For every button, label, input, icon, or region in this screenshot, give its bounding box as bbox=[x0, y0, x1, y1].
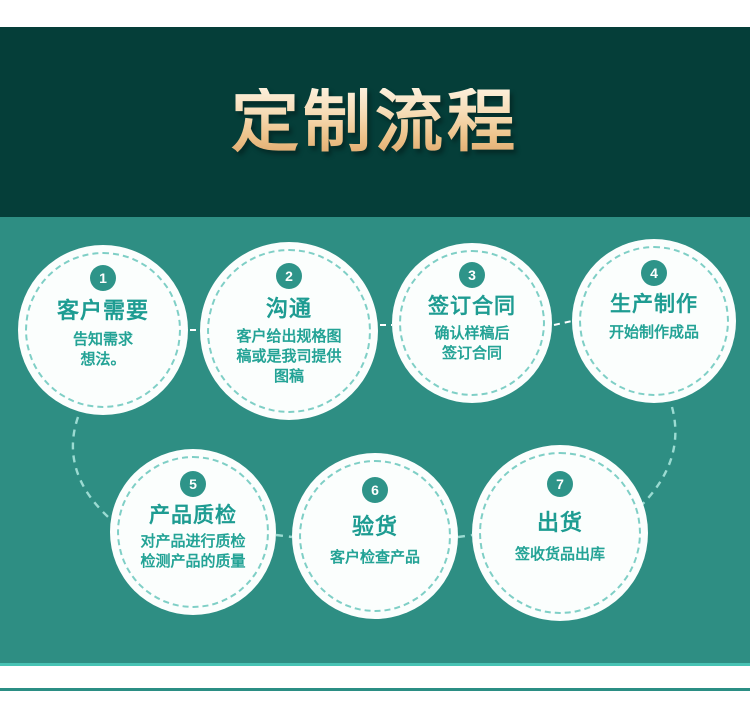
step-description-line: 稿或是我司提供 bbox=[236, 347, 341, 367]
step-card-5[interactable]: 5 产品质检 对产品进行质检 检测产品的质量 bbox=[110, 449, 276, 615]
step-description-line: 签收货品出库 bbox=[515, 545, 605, 565]
connector-3-4 bbox=[554, 321, 572, 325]
step-number-badge: 2 bbox=[276, 263, 302, 289]
bottom-white-margin bbox=[0, 691, 750, 707]
step-number-badge: 3 bbox=[459, 262, 485, 288]
step-number-badge: 5 bbox=[180, 471, 206, 497]
step-number-badge: 4 bbox=[641, 260, 667, 286]
top-white-margin bbox=[0, 0, 750, 27]
step-number-badge: 6 bbox=[362, 477, 388, 503]
step-description-line: 确认样稿后 bbox=[434, 324, 509, 344]
step-card-4[interactable]: 4 生产制作 开始制作成品 bbox=[572, 239, 736, 403]
step-description-line: 开始制作成品 bbox=[609, 323, 699, 343]
step-description-line: 检测产品的质量 bbox=[140, 552, 245, 572]
step-title: 沟通 bbox=[266, 297, 312, 321]
step-description: 告知需求 想法。 bbox=[73, 330, 133, 370]
step-card-6[interactable]: 6 验货 客户检查产品 bbox=[292, 453, 458, 619]
step-description: 对产品进行质检 检测产品的质量 bbox=[140, 532, 245, 572]
step-card-2[interactable]: 2 沟通 客户给出规格图 稿或是我司提供 图稿 bbox=[200, 242, 378, 420]
step-description: 确认样稿后 签订合同 bbox=[434, 324, 509, 364]
step-card-1[interactable]: 1 客户需要 告知需求 想法。 bbox=[18, 245, 188, 415]
step-description-line: 客户检查产品 bbox=[330, 548, 420, 568]
process-flow-area: 1 客户需要 告知需求 想法。 2 沟通 客户给出规格图 稿或是我司提供 图稿 … bbox=[0, 217, 750, 663]
step-description-line: 告知需求 bbox=[73, 330, 133, 350]
step-title: 验货 bbox=[352, 515, 398, 539]
step-description: 签收货品出库 bbox=[515, 545, 605, 565]
page-title: 定制流程 bbox=[231, 88, 519, 156]
step-description-line: 想法。 bbox=[73, 350, 133, 370]
step-description-line: 对产品进行质检 bbox=[140, 532, 245, 552]
step-title: 生产制作 bbox=[610, 293, 698, 316]
step-description: 开始制作成品 bbox=[609, 323, 699, 343]
step-number-badge: 7 bbox=[547, 471, 573, 497]
connector-5-6 bbox=[276, 535, 292, 537]
footer-white-gap bbox=[0, 666, 750, 688]
step-description-line: 客户给出规格图 bbox=[236, 327, 341, 347]
step-description: 客户给出规格图 稿或是我司提供 图稿 bbox=[236, 327, 341, 386]
step-title: 产品质检 bbox=[149, 504, 237, 527]
step-title: 签订合同 bbox=[428, 295, 516, 318]
step-card-7[interactable]: 7 出货 签收货品出库 bbox=[472, 445, 648, 621]
connector-6-7 bbox=[458, 535, 472, 537]
customization-process-infographic: 定制流程 1 客户需要 告知需求 想法。 bbox=[0, 0, 750, 707]
step-card-3[interactable]: 3 签订合同 确认样稿后 签订合同 bbox=[392, 243, 552, 403]
step-description: 客户检查产品 bbox=[330, 548, 420, 568]
step-description-line: 签订合同 bbox=[434, 344, 509, 364]
step-title: 出货 bbox=[537, 511, 583, 535]
step-description-line: 图稿 bbox=[236, 367, 341, 387]
step-number-badge: 1 bbox=[90, 265, 116, 291]
header-banner: 定制流程 bbox=[0, 27, 750, 217]
step-title: 客户需要 bbox=[57, 299, 149, 323]
